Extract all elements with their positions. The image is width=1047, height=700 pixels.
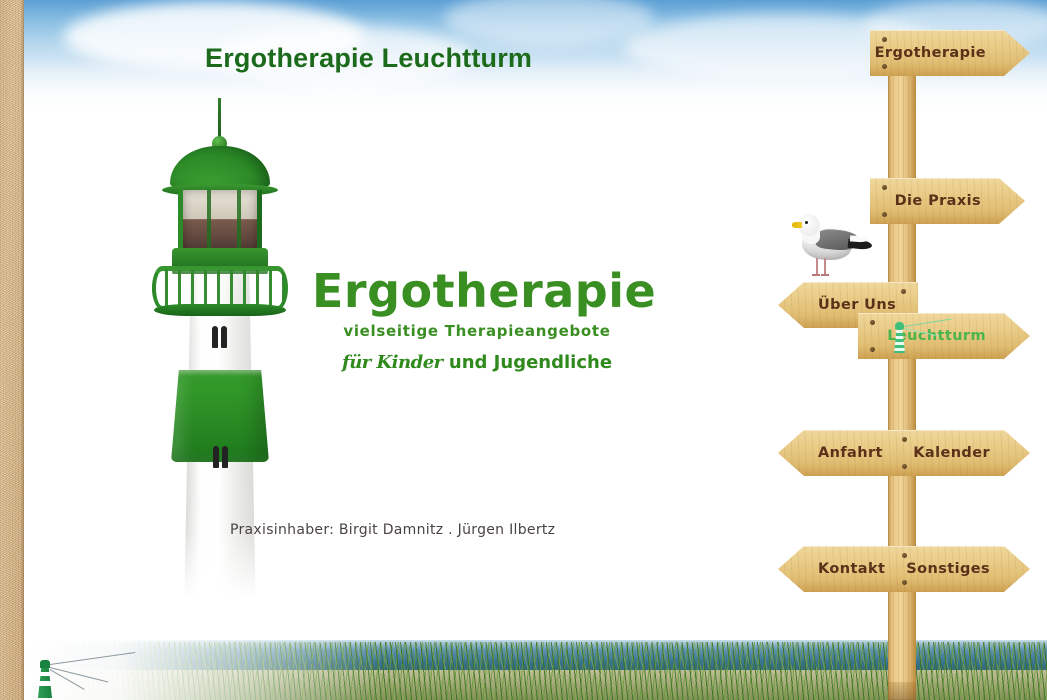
- lighthouse-green-band: [171, 370, 269, 462]
- lighthouse-gallery-floor: [154, 304, 286, 316]
- lighthouse-window: [213, 446, 219, 468]
- nail-icon: [902, 580, 907, 585]
- sidebar-item-ergotherapie[interactable]: Ergotherapie: [870, 30, 1030, 76]
- sign-label: Ergotherapie: [875, 45, 986, 61]
- sidebar-item-kalender[interactable]: Kalender: [913, 445, 990, 461]
- lighthouse-icon: [888, 319, 910, 353]
- signpost-pole: [888, 40, 916, 700]
- lighthouse-bottom-fade: [158, 528, 308, 618]
- nail-icon: [870, 347, 875, 352]
- sidebar-item-anfahrt[interactable]: Anfahrt: [818, 445, 883, 461]
- practice-owners: Praxisinhaber: Birgit Damnitz . Jürgen I…: [230, 522, 555, 538]
- lighthouse-railing: [152, 270, 288, 306]
- nail-icon: [902, 437, 907, 442]
- nail-icon: [882, 185, 887, 190]
- seagull-eye: [805, 221, 808, 224]
- hero-audience-script: für Kinder: [342, 352, 443, 373]
- seagull-foot: [821, 274, 829, 276]
- nail-icon: [882, 37, 887, 42]
- nail-icon: [870, 320, 875, 325]
- sidebar-item-leuchtturm[interactable]: Leuchtturm: [858, 313, 1030, 359]
- hero-audience-rest: und Jugendliche: [449, 352, 612, 373]
- page-title: Ergotherapie Leuchtturm: [205, 43, 532, 74]
- nail-icon: [901, 289, 906, 294]
- seagull-leg: [824, 258, 826, 274]
- lighthouse-icon-beam: [904, 318, 952, 326]
- nail-icon: [902, 553, 907, 558]
- logo-stripe: [38, 672, 52, 676]
- nail-icon: [902, 464, 907, 469]
- logo-lantern-shape: [40, 660, 50, 668]
- page-root: Ergotherapie Leuchtturm Ergotherapie vie…: [0, 0, 1047, 700]
- cloud-shape: [444, 0, 654, 46]
- nail-icon: [882, 64, 887, 69]
- lighthouse-illustration: [140, 98, 320, 518]
- sidebar-row-kontakt-sonstiges[interactable]: Kontakt Sonstiges: [778, 546, 1030, 592]
- seagull-icon: [796, 208, 874, 280]
- lighthouse-window: [212, 326, 218, 348]
- hero-subtitle: vielseitige Therapieangebote: [312, 322, 642, 340]
- seagull-beak: [792, 222, 802, 228]
- hero-audience: für Kinder und Jugendliche: [312, 352, 642, 373]
- nail-icon: [882, 212, 887, 217]
- sidebar-row-anfahrt-kalender[interactable]: Anfahrt Kalender: [778, 430, 1030, 476]
- lighthouse-window: [221, 326, 227, 348]
- hero-wordmark: Ergotherapie vielseitige Therapieangebot…: [312, 268, 642, 373]
- lighthouse-icon-top: [895, 322, 904, 329]
- lighthouse-lantern-room: [178, 190, 262, 254]
- lighthouse-icon-body: [894, 327, 905, 353]
- logo-light-beam: [50, 652, 135, 665]
- navigation-signpost: Ergotherapie Die Praxis Über Uns Leuchtt…: [760, 0, 1047, 700]
- sidebar-item-sonstiges[interactable]: Sonstiges: [906, 561, 990, 577]
- sand-texture-strip: [0, 0, 24, 700]
- lighthouse-window: [222, 446, 228, 468]
- sign-label: Über Uns: [818, 297, 896, 313]
- sidebar-item-die-praxis[interactable]: Die Praxis: [870, 178, 1025, 224]
- lighthouse-logo[interactable]: [34, 652, 154, 698]
- sidebar-item-kontakt[interactable]: Kontakt: [818, 561, 885, 577]
- seagull-tail: [850, 235, 868, 242]
- sign-label: Die Praxis: [895, 193, 981, 209]
- seagull-foot: [812, 274, 820, 276]
- seagull-leg: [816, 258, 818, 274]
- hero-title: Ergotherapie: [312, 268, 642, 315]
- logo-stripe: [38, 681, 52, 686]
